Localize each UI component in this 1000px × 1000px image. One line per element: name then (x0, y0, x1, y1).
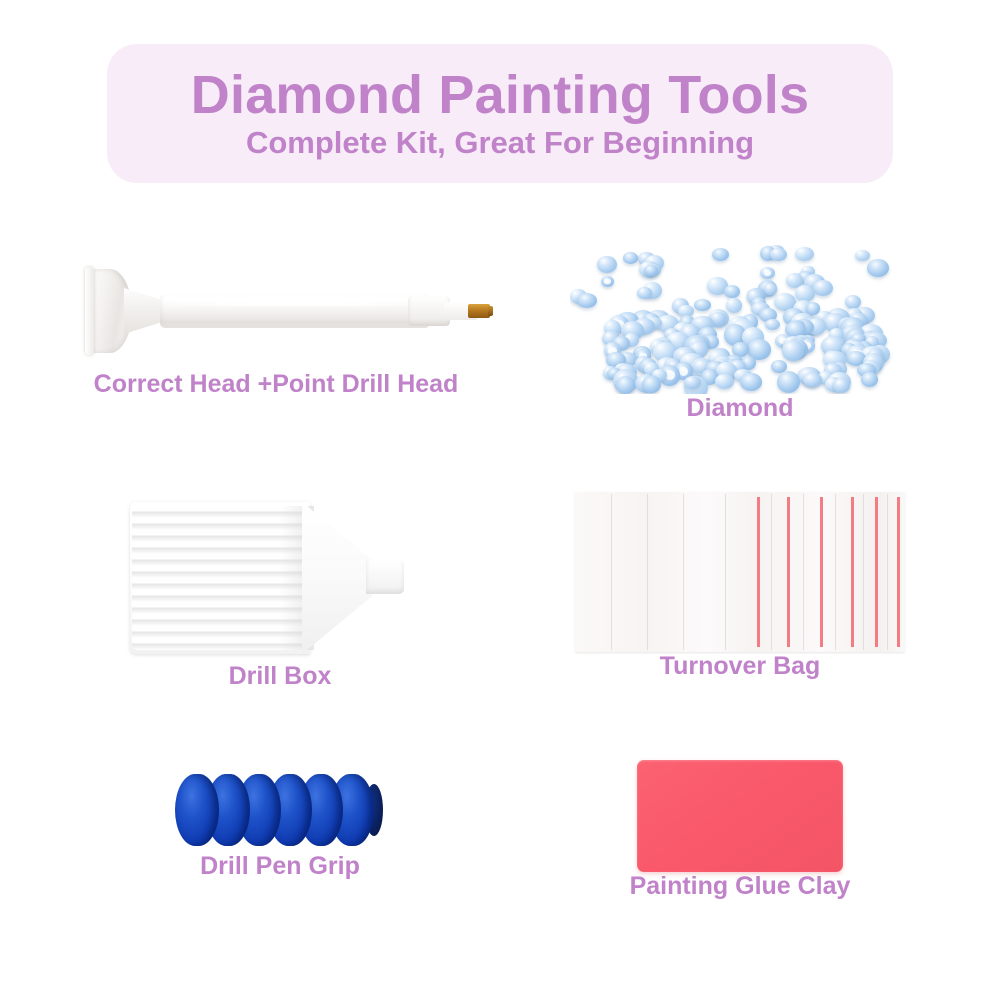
bag-red-stripe (820, 497, 823, 647)
diamond-drill (813, 280, 833, 296)
diamond-image (570, 244, 910, 394)
bag-sheet (575, 492, 905, 652)
bag-fold-line (647, 494, 648, 650)
diamond-drill (867, 259, 889, 277)
bag-fold-line (887, 494, 888, 650)
diamond-drill (726, 298, 741, 313)
glue-clay-illustration (637, 760, 843, 872)
tray-taper (302, 502, 372, 654)
pen-grip-illustration (175, 770, 385, 852)
diamond-drill (782, 340, 804, 360)
bag-red-stripe (897, 497, 900, 647)
diamond-drill (770, 248, 787, 261)
page-subtitle: Complete Kit, Great For Beginning (246, 127, 754, 160)
turnover-bag-illustration (575, 492, 905, 652)
product-label-drill-box: Drill Box (229, 662, 332, 691)
diamond-drill (777, 371, 800, 393)
product-label-drill-pen: Correct Head +Point Drill Head (94, 370, 459, 399)
diamond-drill (833, 378, 849, 393)
bag-fold-line (803, 494, 804, 650)
diamond-drill (642, 376, 660, 394)
diamond-drill (597, 256, 617, 273)
bag-fold-line (835, 494, 836, 650)
product-label-turnover-bag: Turnover Bag (660, 652, 821, 681)
bag-fold-line (863, 494, 864, 650)
diamond-drill (724, 285, 740, 298)
bag-fold-line (725, 494, 726, 650)
drill-box-illustration (130, 492, 430, 662)
drill-box-image (130, 492, 430, 662)
pen-body-highlight (168, 298, 416, 306)
turnover-bag-image (575, 492, 905, 652)
glue-clay-image (637, 760, 843, 872)
bag-fold-line (771, 494, 772, 650)
diamond-drill (803, 373, 823, 388)
diamond-drill (616, 376, 635, 394)
page-title: Diamond Painting Tools (191, 67, 809, 123)
product-item-turnover-bag: Turnover Bag (520, 492, 960, 681)
product-item-drill-box: Drill Box (60, 492, 500, 691)
diamond-drill (637, 287, 653, 299)
diamond-drill (715, 374, 734, 390)
tray-spout (366, 560, 404, 594)
header-banner: Diamond Painting Tools Complete Kit, Gre… (107, 44, 893, 183)
product-item-glue-clay: Painting Glue Clay (520, 760, 960, 901)
bag-red-stripe (787, 497, 790, 647)
diamond-drill (623, 252, 638, 264)
diamond-pile-illustration (570, 244, 910, 394)
diamond-drill (855, 250, 870, 261)
pen-correction-head-plate (85, 267, 94, 355)
bag-fold-line (683, 494, 684, 650)
diamond-drill (694, 299, 710, 311)
pen-gold-tip (468, 304, 490, 318)
drill-pen-image (56, 250, 496, 370)
product-label-pen-grip: Drill Pen Grip (200, 852, 360, 881)
clay-block (637, 760, 843, 872)
pen-grip-image (175, 770, 385, 852)
diamond-drill (861, 372, 878, 387)
bag-red-stripe (757, 497, 760, 647)
diamond-drill (644, 265, 658, 276)
bag-fold-line (611, 494, 612, 650)
bag-red-stripe (851, 497, 854, 647)
diamond-drill (795, 247, 814, 261)
diamond-drill (712, 248, 729, 261)
product-item-pen-grip: Drill Pen Grip (60, 770, 500, 881)
drill-pen-illustration (56, 250, 496, 370)
product-label-diamond: Diamond (687, 394, 794, 423)
product-item-drill-pen: Correct Head +Point Drill Head (26, 250, 526, 399)
diamond-drill (684, 376, 701, 389)
grip-segment (175, 774, 219, 846)
diamond-drill (740, 373, 762, 391)
product-item-diamond: Diamond (520, 244, 960, 423)
diamond-drill (601, 276, 614, 288)
diamond-drill (577, 293, 597, 308)
bag-red-stripe (875, 497, 878, 647)
diamond-drill (760, 267, 775, 279)
diamond-drill (765, 319, 780, 330)
product-label-glue-clay: Painting Glue Clay (630, 872, 851, 901)
